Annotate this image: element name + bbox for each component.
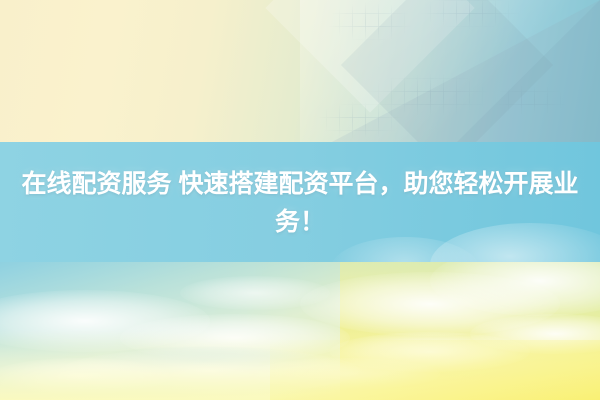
banner-top-decoration [0, 0, 600, 143]
headline-line-1: 在线配资服务 快速搭建配资平台，助您轻松开展业 [22, 165, 579, 203]
promo-banner: 在线配资服务 快速搭建配资平台，助您轻松开展业 务！ [0, 0, 600, 400]
grid-texture-overlay [300, 0, 600, 143]
headline-text-block: 在线配资服务 快速搭建配资平台，助您轻松开展业 务！ [0, 142, 600, 263]
sky-bottom-glow-corner [270, 340, 600, 400]
headline-band: 在线配资服务 快速搭建配资平台，助您轻松开展业 务！ [0, 142, 600, 263]
headline-line-2: 务！ [275, 203, 325, 241]
banner-bottom-sky [0, 262, 600, 400]
cloud-wisp [180, 276, 330, 310]
